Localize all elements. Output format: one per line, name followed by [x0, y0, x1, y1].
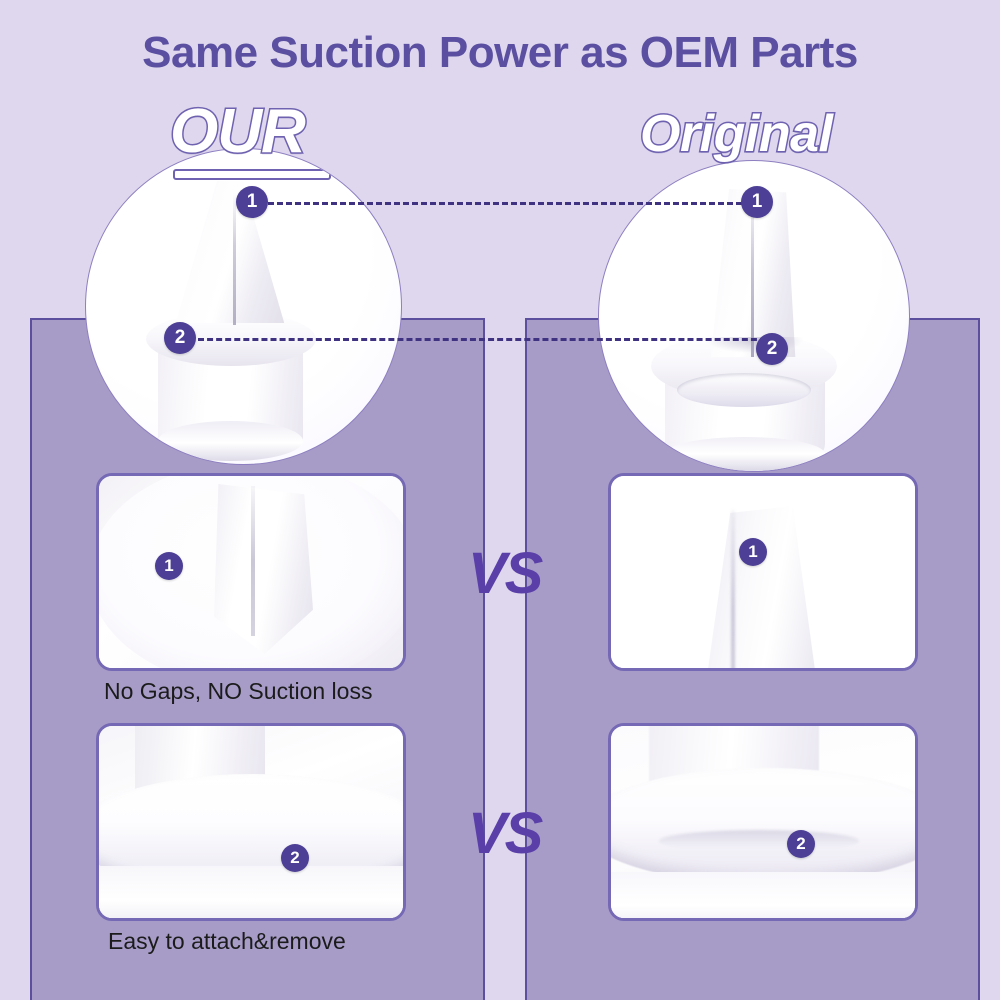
infographic-root: Same Suction Power as OEM Parts OUR	[0, 0, 1000, 1000]
vs-marker-2: VS	[468, 800, 541, 867]
badge-original-circle-2: 2	[756, 333, 788, 365]
connector-line-2	[198, 338, 766, 341]
wordmark-underline-our	[173, 169, 331, 180]
caption-our-1: No Gaps, NO Suction loss	[104, 678, 372, 705]
badge-original-card-1: 1	[739, 538, 767, 566]
photo-card-our-2: 2	[96, 723, 406, 921]
badge-original-card-2: 2	[787, 830, 815, 858]
badge-our-circle-2: 2	[164, 322, 196, 354]
badge-original-circle-1: 1	[741, 186, 773, 218]
photo-card-our-1: 1	[96, 473, 406, 671]
photo-our-1	[99, 476, 403, 668]
connector-line-1	[268, 202, 742, 205]
photo-our-2	[99, 726, 403, 918]
wordmark-original: Original	[640, 104, 832, 164]
caption-our-2: Easy to attach&remove	[108, 928, 346, 955]
badge-our-circle-1: 1	[236, 186, 268, 218]
photo-card-original-1: 1	[608, 473, 918, 671]
badge-our-card-1: 1	[155, 552, 183, 580]
page-title: Same Suction Power as OEM Parts	[0, 28, 1000, 78]
badge-our-card-2: 2	[281, 844, 309, 872]
photo-original-1	[611, 476, 915, 668]
vs-marker-1: VS	[468, 540, 541, 607]
photo-card-original-2: 2	[608, 723, 918, 921]
photo-original-2	[611, 726, 915, 918]
wordmark-our: OUR	[170, 96, 305, 167]
